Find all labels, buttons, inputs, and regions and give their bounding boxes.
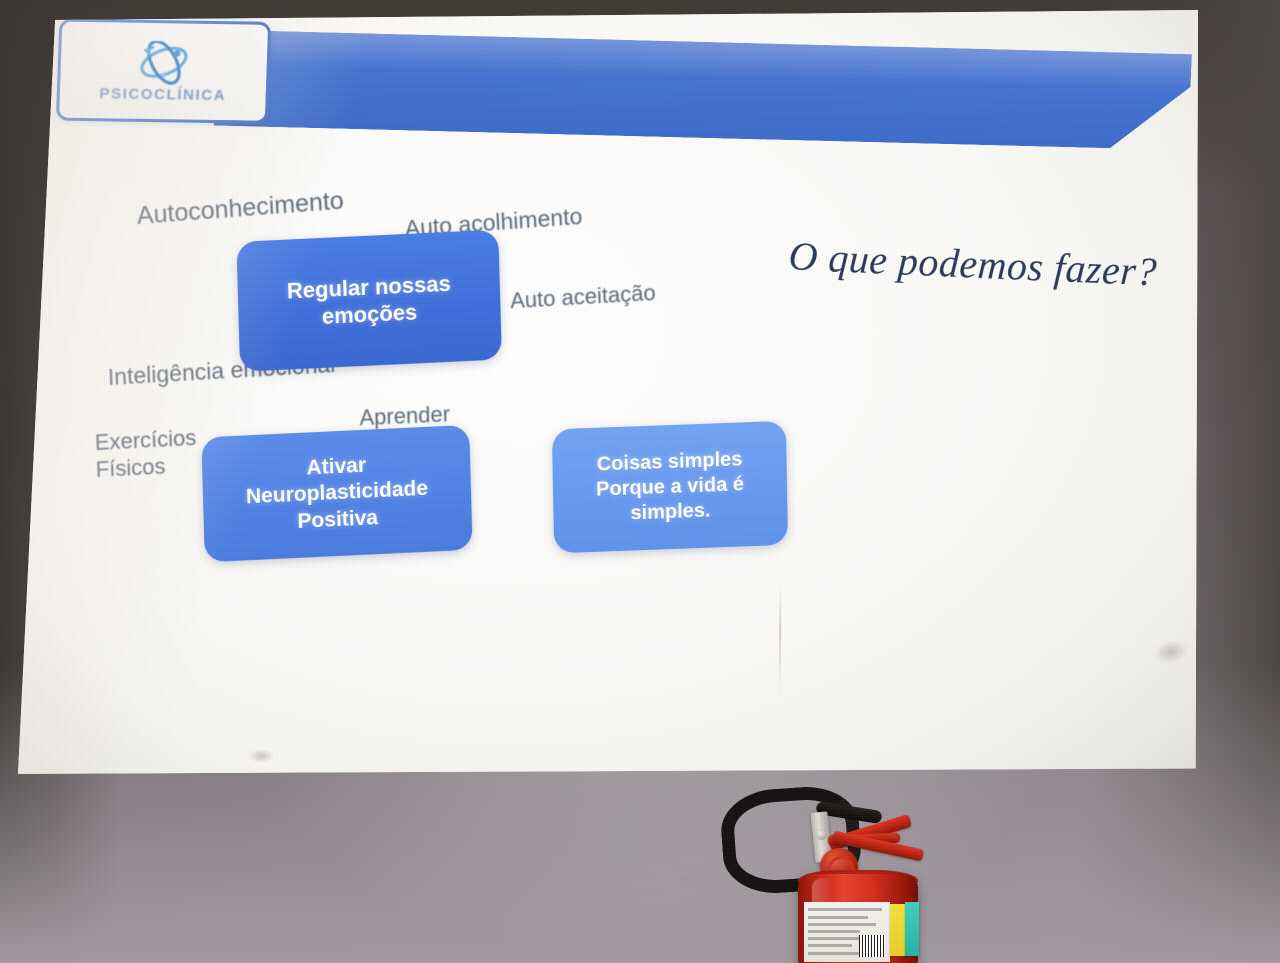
label-exercicios-line-1: Exercícios bbox=[94, 424, 196, 456]
slide-smudge-secondary bbox=[248, 749, 274, 763]
label-auto-aceitacao: Auto aceitação bbox=[510, 280, 656, 314]
box-coisas-simples: Coisas simples Porque a vida é simples. bbox=[552, 421, 788, 554]
atom-emblem-icon bbox=[132, 41, 195, 86]
brand-logo-text: PSICOCLÍNICA bbox=[99, 85, 226, 104]
projected-slide: PSICOCLÍNICA O que podemos fazer? Autoco… bbox=[18, 10, 1198, 780]
extinguisher-barcode bbox=[859, 935, 885, 957]
extinguisher-sticker-teal bbox=[905, 902, 919, 956]
box-neuroplasticidade: Ativar Neuroplasticidade Positiva bbox=[201, 425, 472, 563]
header-band-sheen bbox=[214, 30, 1192, 151]
extinguisher-sticker-yellow bbox=[890, 904, 906, 956]
slide-smudge bbox=[1153, 638, 1190, 665]
extinguisher-bracket-screw bbox=[816, 829, 827, 840]
box-regular-emocoes-text: Regular nossas emoções bbox=[287, 269, 452, 332]
box-coisas-simples-text: Coisas simples Porque a vida é simples. bbox=[595, 447, 744, 527]
box-neuroplasticidade-text: Ativar Neuroplasticidade Positiva bbox=[245, 450, 429, 537]
extinguisher-label bbox=[804, 902, 890, 962]
slide-faint-line bbox=[779, 586, 782, 696]
slide-header-band bbox=[214, 30, 1192, 151]
box-regular-emocoes: Regular nossas emoções bbox=[236, 230, 502, 372]
slide-headline: O que podemos fazer? bbox=[787, 232, 1189, 296]
label-exercicios-line-2: Físicos bbox=[95, 451, 197, 483]
label-autoconhecimento: Autoconhecimento bbox=[136, 187, 344, 231]
brand-logo-plate: PSICOCLÍNICA bbox=[56, 19, 271, 124]
slide-content: PSICOCLÍNICA O que podemos fazer? Autoco… bbox=[18, 10, 1198, 780]
photo-scene: PSICOCLÍNICA O que podemos fazer? Autoco… bbox=[0, 0, 1280, 963]
projection-area: PSICOCLÍNICA O que podemos fazer? Autoco… bbox=[0, 0, 1280, 963]
label-exercicios-fisicos: ExercíciosFísicos bbox=[94, 424, 197, 484]
fire-extinguisher bbox=[700, 782, 960, 963]
